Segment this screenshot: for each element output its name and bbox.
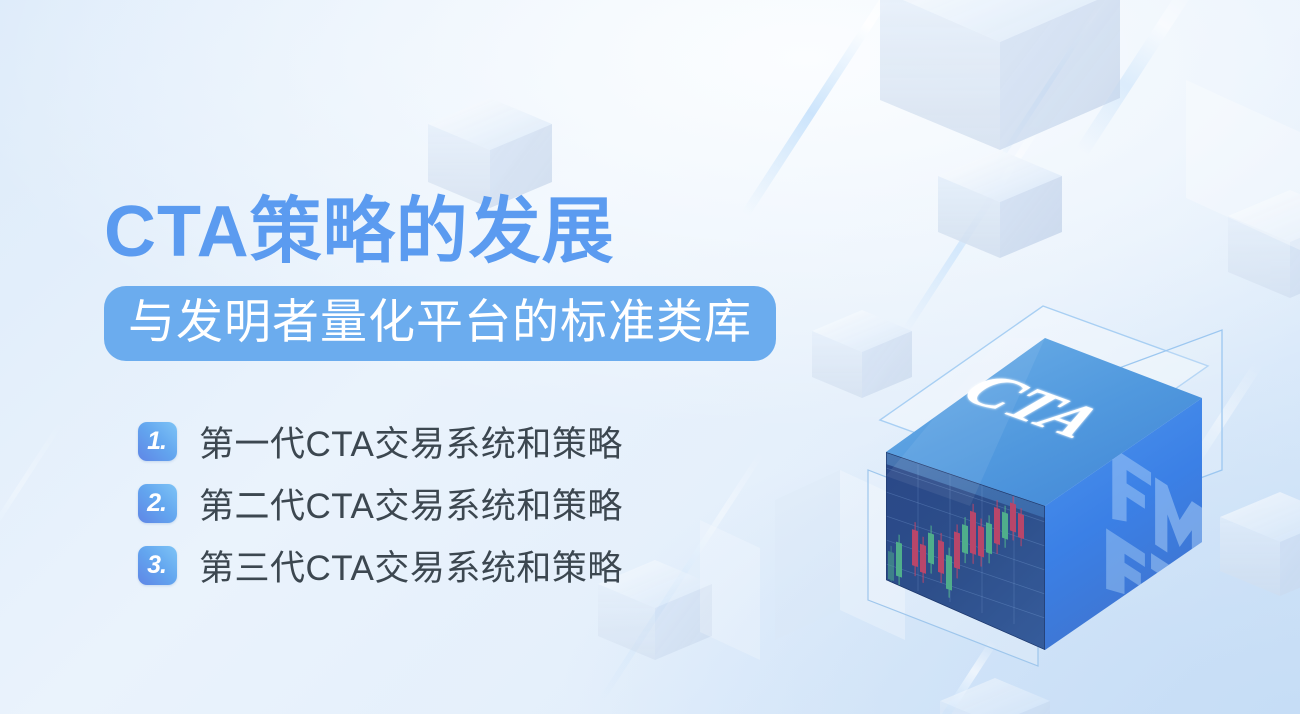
list-number: 2. xyxy=(147,491,166,516)
light-streak xyxy=(995,0,1124,166)
list-number-badge: 3. xyxy=(138,546,177,585)
list-number-badge: 1. xyxy=(138,422,177,461)
subtitle-text: 与发明者量化平台的标准类库 xyxy=(128,297,752,348)
decor-cube xyxy=(938,150,1062,258)
headline-block: CTA策略的发展 与发明者量化平台的标准类库 xyxy=(104,196,864,361)
list-item-label: 第二代CTA交易系统和策略 xyxy=(199,478,623,529)
decor-panel xyxy=(1186,80,1300,250)
light-streak xyxy=(0,420,64,691)
light-streak xyxy=(742,0,913,217)
list-item-label: 第三代CTA交易系统和策略 xyxy=(199,540,623,591)
agenda-list: 1. 第一代CTA交易系统和策略 2. 第二代CTA交易系统和策略 3. 第三代… xyxy=(138,410,623,596)
decor-cube xyxy=(940,678,1050,714)
list-item[interactable]: 1. 第一代CTA交易系统和策略 xyxy=(138,410,623,472)
list-item[interactable]: 3. 第三代CTA交易系统和策略 xyxy=(138,534,623,596)
list-number: 1. xyxy=(147,429,166,454)
list-number: 3. xyxy=(147,553,166,578)
list-item-label: 第一代CTA交易系统和策略 xyxy=(199,416,623,467)
list-item[interactable]: 2. 第二代CTA交易系统和策略 xyxy=(138,472,623,534)
list-number-badge: 2. xyxy=(138,484,177,523)
subtitle-pill: 与发明者量化平台的标准类库 xyxy=(104,286,776,361)
cta-cube-illustration: CTA xyxy=(850,270,1270,670)
decor-panel xyxy=(700,520,760,660)
page-title: CTA策略的发展 xyxy=(104,196,864,268)
banner-canvas: CTA策略的发展 与发明者量化平台的标准类库 1. 第一代CTA交易系统和策略 … xyxy=(0,0,1300,714)
decor-cube xyxy=(880,0,1120,150)
light-streak xyxy=(1076,0,1197,155)
